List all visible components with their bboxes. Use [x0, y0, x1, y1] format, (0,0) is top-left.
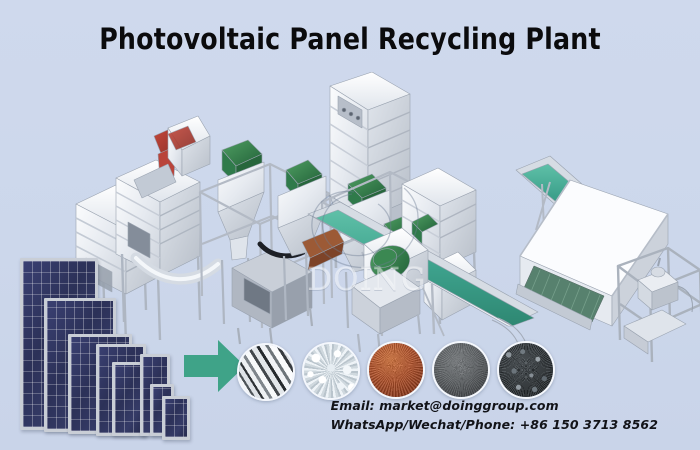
input-solar-panels: [8, 250, 193, 440]
contact-phone: WhatsApp/Wechat/Phone: +86 150 3713 8562: [331, 415, 658, 434]
product-aluminum-frame: [237, 343, 295, 401]
contact-info: Email: market@doinggroup.com WhatsApp/We…: [331, 396, 658, 434]
product-eva-backsheet: [497, 341, 555, 399]
contact-email: Email: market@doinggroup.com: [331, 396, 658, 415]
page-title: Photovoltaic Panel Recycling Plant: [11, 22, 690, 56]
product-copper-powder: [367, 341, 425, 399]
list-item: [162, 396, 190, 440]
equipment-primary-crusher: [232, 250, 312, 346]
product-silicon-powder: [432, 341, 490, 399]
poster-canvas: Photovoltaic Panel Recycling Plant: [0, 0, 700, 450]
product-glass-cullet: [302, 342, 360, 400]
